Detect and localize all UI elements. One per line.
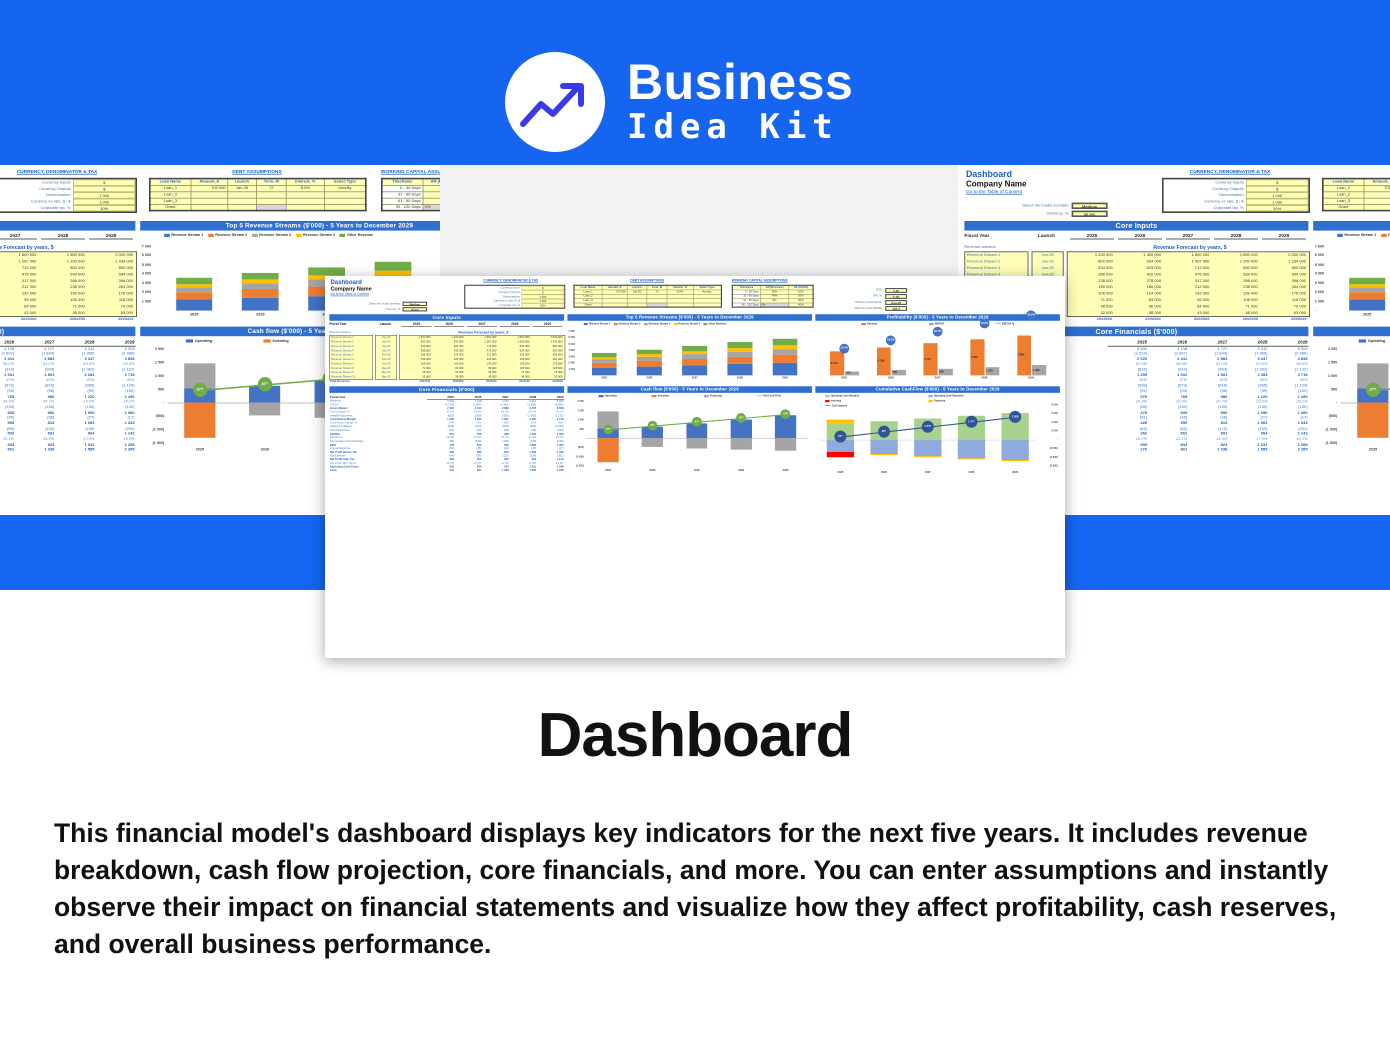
y-axis-tick: 6 000 <box>1037 412 1058 415</box>
revenue-stream-value[interactable]: 38 000 <box>433 375 466 379</box>
legend-swatch-line <box>825 405 830 406</box>
legend-swatch <box>1381 233 1387 236</box>
cash-flow-chart: OperatingInvestingFinancingNet Cash Flow… <box>1313 338 1390 466</box>
revenue-stream-value[interactable]: 32 000 <box>1068 310 1116 316</box>
stacked-bar-segment <box>773 349 798 355</box>
legend-item: Revenue <box>861 322 877 325</box>
wc-timeframe: 90 - 120 Days <box>732 303 760 307</box>
table-of-content-link[interactable]: Go to the Table of Content <box>330 293 368 296</box>
legend-swatch-line <box>995 323 1000 324</box>
legend-item: EBITDA <box>929 322 944 325</box>
inventory-label: Inventory, % <box>330 308 400 311</box>
total-revenue-row: ################################### <box>0 317 137 322</box>
stacked-bar-segment <box>637 367 662 376</box>
legend-label: Revenue Stream 1 <box>171 233 203 237</box>
x-axis-label: 2028 <box>965 471 978 474</box>
y-axis-tick: - <box>1315 308 1316 312</box>
x-axis-label: 2025 <box>602 469 615 472</box>
wc-ap[interactable]: 40% <box>789 303 813 307</box>
total-revenue-value: ####### <box>40 317 89 322</box>
debt-cell[interactable]: Grant <box>1323 204 1364 210</box>
stacked-bar-segment <box>242 273 278 280</box>
core-fin-value: 12.1% <box>0 437 15 442</box>
stacked-bar-segment <box>682 359 707 366</box>
legend-label: Revenue Stream 3 <box>259 233 291 237</box>
legend-label: EBITDA % <box>1002 322 1014 325</box>
profitability-chart: RevenueEBITDAEBITDA %3 54457616.3%20254 … <box>815 322 1060 386</box>
legend-label: Financing <box>934 399 945 402</box>
currency-row-value[interactable]: 10% <box>1246 205 1308 211</box>
revenue-streams-label: Revenue streams <box>964 245 995 250</box>
stacked-bar-segment <box>308 267 344 275</box>
y-axis-tick: 5 000 <box>1315 262 1324 266</box>
ebitda-pct-bubble: 18.5% <box>886 335 896 345</box>
stacked-bar-segment <box>242 289 278 298</box>
legend-item: Operating Cash Payments <box>928 394 1029 397</box>
core-fin-value: 270 <box>427 469 454 473</box>
y-axis-tick: 2 000 <box>569 361 575 364</box>
debt-cell[interactable]: Grant <box>150 204 191 210</box>
revenue-streams-bar: Top 5 Revenue Streams ($'000) - 5 Years … <box>567 314 812 321</box>
table-row: Cash2706011 0361 5852 265 <box>329 469 564 473</box>
core-fin-value: 1 585 <box>509 469 536 473</box>
table-of-content-link[interactable]: Go to the Table of Content <box>966 190 1022 195</box>
revenue-stream-value[interactable]: 43 000 <box>0 310 40 316</box>
revenue-stream-value[interactable]: 48 000 <box>1213 310 1261 316</box>
debt-cell[interactable] <box>647 303 667 307</box>
legend-swatch <box>825 395 829 397</box>
legend-label: Net Cash Flow <box>763 394 780 397</box>
y-axis-tick: 1 000 <box>142 299 151 303</box>
legend-label: Operating <box>605 394 617 397</box>
x-axis-label: 2027 <box>688 377 701 380</box>
legend-swatch <box>599 395 604 397</box>
total-revenue-value: ####### <box>88 317 137 322</box>
total-revenue-row: ################################### <box>1067 317 1310 322</box>
cumulative-cashflow-chart: Operating Cash ReceiptsOperating Cash Pa… <box>815 394 1060 481</box>
core-fin-value: 1 585 <box>55 447 95 452</box>
debt-block-caption: DEBT ASSUMPTIONS <box>1322 170 1390 175</box>
debt-cell[interactable]: Grant <box>574 303 602 307</box>
y-axis-tick: 4 000 <box>569 349 575 352</box>
legend-label: Revenue Stream 4 <box>303 233 335 237</box>
legend-swatch <box>1359 339 1366 342</box>
total-revenue-value: ####### <box>1067 317 1116 322</box>
legend-item: Operating <box>599 394 617 397</box>
stacked-bar-segment <box>773 355 798 363</box>
operating-payments-bar <box>1002 440 1029 460</box>
revenue-streams-bar: Top 5 Revenue Streams ($'000) - 5 Years … <box>1313 221 1390 231</box>
investing-bar <box>598 438 619 462</box>
stacked-bar-segment <box>637 361 662 367</box>
stacked-bar-segment <box>176 284 212 287</box>
currency-block-caption: CURRENCY, DENOMINATOR & TAX <box>456 279 565 282</box>
y-axis-tick: 3 000 <box>569 355 575 358</box>
kpi-value: 5.4% <box>885 294 907 299</box>
revenue-stream-value[interactable]: 53 000 <box>1261 310 1309 316</box>
legend-swatch <box>208 233 214 236</box>
x-axis-label: 2029 <box>1025 377 1038 380</box>
core-inputs-bar: Core Inputs <box>329 314 564 321</box>
y-axis-tick: (1 000) <box>569 455 584 458</box>
legend-swatch <box>929 323 934 325</box>
y-axis-tick: 6 000 <box>569 336 575 339</box>
fiscal-year-label: Fiscal Year <box>329 323 346 326</box>
x-axis-label: 2026 <box>646 469 659 472</box>
investing-bar <box>1357 403 1388 438</box>
dashboard-screenshot-main: DashboardCompany NameGo to the Table of … <box>325 276 1065 658</box>
legend-item: Financing <box>704 394 722 397</box>
chart-legend: Operating Cash ReceiptsOperating Cash Pa… <box>815 394 1060 408</box>
revenue-stream-value[interactable]: 38 000 <box>1116 310 1164 316</box>
top5-revenue-chart: Revenue Stream 1Revenue Stream 2Revenue … <box>1313 232 1390 326</box>
revenue-stream-value[interactable]: 48 000 <box>499 375 532 379</box>
debt-cell[interactable] <box>256 204 286 210</box>
y-axis-tick: (500) <box>569 446 584 449</box>
revenue-stream-value[interactable]: 32 000 <box>400 375 433 379</box>
revenue-stream-value[interactable]: 53 000 <box>532 375 565 379</box>
table-row: Grant <box>574 303 721 307</box>
legend-label: Revenue Stream 3 <box>649 322 671 325</box>
company-name: Company Name <box>330 286 371 292</box>
financing-bar <box>249 403 280 415</box>
cash-flow-chart: OperatingInvestingFinancingNet Cash Flow… <box>567 394 812 481</box>
currency-row-label: Corporate tax, % <box>1164 205 1246 211</box>
kpi-label: Minimum Cash Month <box>816 301 882 304</box>
stacked-bar-segment <box>592 353 617 357</box>
core-fin-value: 1 036 <box>1188 447 1228 452</box>
core-fin-value: 2 265 <box>1268 447 1308 452</box>
debt-cell[interactable] <box>667 303 693 307</box>
table-row: Cash2706011 0361 5852 265 <box>0 447 135 452</box>
legend-item: Other Revenue <box>340 233 373 237</box>
inventory-input[interactable]: 30.0% <box>1072 211 1108 217</box>
legend-item: Operating <box>1359 339 1385 343</box>
core-financials-bar: Core Financials ($'000) <box>0 327 135 337</box>
legend-item: Revenue Stream 3 <box>252 233 291 237</box>
stacked-bar-segment <box>637 357 662 361</box>
legend-item: Revenue Stream 4 <box>674 322 701 325</box>
table-row: 0 - 30 Days60%10% <box>732 290 813 294</box>
forecast-caption: Revenue Forecast by years, $ <box>1070 245 1310 251</box>
y-axis-tick: 5 000 <box>142 262 151 266</box>
legend-swatch <box>164 233 170 236</box>
kpi-value: Aug-25 <box>885 300 907 305</box>
revenue-bar-label: 5 904 <box>1018 354 1025 357</box>
debt-cell[interactable] <box>191 204 228 210</box>
core-inputs-year: 2026 <box>1118 234 1162 240</box>
stacked-bar-segment <box>682 365 707 375</box>
brand-tagline: Idea Kit <box>627 108 853 147</box>
legend-swatch <box>674 323 678 325</box>
cash-balance-bubble: 2 265 <box>1009 411 1021 423</box>
y-axis-tick: 1 500 <box>569 409 584 412</box>
currency-row: Corporate tax, %10% <box>0 205 135 211</box>
total-revenue-value: ####### <box>466 380 499 383</box>
legend-label: Operating Cash Receipts <box>831 394 860 397</box>
legend-label: Revenue <box>867 322 877 325</box>
core-inputs-bar: Core Inputs <box>0 221 135 231</box>
legend-label: Investing <box>272 339 288 343</box>
core-fin-value: 270 <box>1108 447 1148 452</box>
legend-swatch <box>928 395 932 397</box>
core-fin-value: 59.0% <box>0 362 15 367</box>
launch-label: Launch <box>380 323 392 326</box>
currency-table: Currency Inputs$Currency Outputs$Denomin… <box>464 285 565 309</box>
wc-ar[interactable]: 0% <box>423 204 440 210</box>
legend-swatch <box>252 233 258 236</box>
kpi-value: 7.20 <box>885 288 907 293</box>
core-financials-bar: Core Financials ($'000) <box>329 386 564 393</box>
legend-label: Other Revenue <box>708 322 726 325</box>
stacked-bar-segment <box>773 345 798 349</box>
cash-flow-bar: Cash flow ($'000) - 5 Years to December … <box>1313 327 1390 337</box>
x-axis-label: 2025 <box>834 471 847 474</box>
legend-swatch <box>1337 233 1343 236</box>
operating-payments-bar <box>871 440 898 454</box>
wc-timeframe: 90 - 120 Days <box>382 204 423 210</box>
revenue-stream-values: 1 200 0001 400 0001 600 0001 800 0002 00… <box>0 251 137 317</box>
y-axis-tick: 2 000 <box>1037 429 1058 432</box>
legend-label: Revenue Stream 1 <box>589 322 611 325</box>
legend-item: Revenue Stream 1 <box>1337 233 1376 237</box>
debt-block-caption: DEBT ASSUMPTIONS <box>573 279 720 282</box>
revenue-bar-label: 4 138 <box>877 360 884 363</box>
total-revenue-value: ####### <box>532 380 565 383</box>
legend-swatch <box>584 323 588 325</box>
y-axis-tick: (1 500) <box>1315 441 1337 445</box>
legend-item: Revenue Stream 3 <box>644 322 671 325</box>
financing-bar <box>1002 460 1029 461</box>
stacked-bar-segment <box>773 363 798 375</box>
y-axis-tick: 7 000 <box>142 244 151 248</box>
y-axis-tick: 4 000 <box>1037 421 1058 424</box>
debt-cell[interactable] <box>324 204 365 210</box>
y-axis-tick: (500) <box>142 414 164 418</box>
legend-swatch <box>186 339 193 342</box>
working-capital-table: TimeframeAR (Revenue)AP (COGS)0 - 30 Day… <box>381 178 440 212</box>
currency-row: Corporate tax, %10% <box>1164 205 1309 211</box>
ebitda-bar-label: 1 490 <box>1033 369 1040 372</box>
y-axis-tick: - <box>1037 438 1058 441</box>
y-axis-tick: (1 500) <box>569 464 584 467</box>
y-axis-tick: 500 <box>569 428 584 431</box>
wc-block-caption: WORKING CAPITAL ASSUMPTIONS <box>732 279 814 282</box>
core-fin-value: (1 697) <box>0 351 15 356</box>
core-fin-value: 601 <box>0 447 15 452</box>
legend-swatch <box>296 233 302 236</box>
ebitda-bar-label: 1 220 <box>986 370 993 373</box>
debt-cell[interactable] <box>693 303 721 307</box>
revenue-stream-value[interactable]: 43 000 <box>466 375 499 379</box>
stacked-bar-segment <box>727 348 752 351</box>
y-axis-tick: 2 000 <box>1315 290 1324 294</box>
ebitda-pct-bubble: 20.7% <box>933 327 943 337</box>
legend-swatch <box>614 323 618 325</box>
stacked-bar-segment <box>727 357 752 364</box>
core-fin-value: 1 036 <box>482 469 509 473</box>
core-fin-value: 2 265 <box>95 447 135 452</box>
stacked-bar-segment <box>592 368 617 375</box>
y-axis-tick: - <box>569 437 584 440</box>
scenario-select[interactable]: Medium <box>403 302 428 306</box>
x-axis-label: 2025 <box>190 448 209 452</box>
chart-legend: OperatingInvestingFinancingNet Cash Flow <box>1313 338 1390 344</box>
chart-legend: OperatingInvestingFinancingNet Cash Flow <box>567 394 812 398</box>
currency-row-label: Corporate tax, % <box>465 303 521 307</box>
cumulative-cashflow-bar: Cumulative CashFlow ($'000) - 5 Years to… <box>815 386 1060 393</box>
y-axis-tick: 1 000 <box>569 418 584 421</box>
currency-row-value[interactable]: 10% <box>522 303 565 307</box>
table-row: 61 - 90 Days0%30% <box>732 298 813 302</box>
stacked-bar-segment <box>242 280 278 284</box>
y-axis-tick: (2 000) <box>1037 447 1058 450</box>
core-inputs-year: 2029 <box>1262 234 1306 240</box>
brand-logo: Business Idea Kit <box>505 52 853 152</box>
core-financials-table: Fiscal Year20252026202720282029Revenue3 … <box>0 339 135 452</box>
core-fin-value: 601 <box>455 469 482 473</box>
total-revenue-label: Total Revenue <box>329 380 349 383</box>
legend-swatch <box>928 400 932 402</box>
working-capital-table: TimeframeAR (Revenue)AP (COGS)0 - 30 Day… <box>732 285 814 308</box>
y-axis-tick: - <box>142 401 164 405</box>
core-inputs-year: 2026 <box>434 323 464 327</box>
legend-swatch-line <box>757 395 762 396</box>
debt-cell[interactable] <box>602 303 627 307</box>
stacked-bar-segment <box>592 360 617 363</box>
scenario-select[interactable]: Medium <box>1072 203 1108 209</box>
financing-bar <box>914 456 941 457</box>
legend-swatch <box>264 339 271 342</box>
financing-bar <box>731 438 752 449</box>
x-axis-label: 2029 <box>1009 471 1022 474</box>
x-axis-label: 2029 <box>779 469 792 472</box>
revenue-stream-names: Revenue Stream 1Revenue Stream 2Revenue … <box>329 335 373 380</box>
core-inputs-year: 2028 <box>500 323 530 327</box>
chart-legend: RevenueEBITDAEBITDA % <box>815 322 1060 326</box>
stacked-bar-segment <box>176 278 212 284</box>
table-row: 90 - 120 Days0%40% <box>382 204 440 210</box>
ebitda-bar-label: 980 <box>939 370 944 373</box>
revenue-stream-launch-value[interactable]: Mar-25 <box>376 375 397 379</box>
launch-label: Launch <box>1038 234 1055 239</box>
total-revenue-value: ####### <box>1115 317 1164 322</box>
core-inputs-year: 2029 <box>89 234 133 240</box>
revenue-stream-value[interactable]: 48 000 <box>40 310 88 316</box>
ebitda-pct-bubble: 25.2% <box>1026 310 1036 320</box>
legend-item: Investing <box>825 399 926 402</box>
stacked-bar-segment <box>682 354 707 358</box>
total-revenue-value: ####### <box>1261 317 1310 322</box>
core-inputs-year: 2029 <box>532 323 562 327</box>
wc-ar[interactable]: 0% <box>760 303 789 307</box>
table-row: 90 - 120 Days0%40% <box>732 303 813 307</box>
legend-item: Operating <box>186 339 212 343</box>
stacked-bar-segment <box>242 298 278 311</box>
ebitda-bar-label: 576 <box>846 372 851 375</box>
x-axis-label: 2027 <box>690 469 703 472</box>
x-axis-label: 2025 <box>1358 313 1377 317</box>
stacked-bar-segment <box>176 287 212 292</box>
legend-item: Revenue Stream 2 <box>208 233 247 237</box>
legend-label: Investing <box>658 394 669 397</box>
y-axis-tick: 5 000 <box>569 343 575 346</box>
y-axis-tick: - <box>569 374 570 377</box>
total-revenue-row: ################################### <box>399 380 565 383</box>
debt-cell[interactable] <box>627 303 647 307</box>
revenue-streams-bar: Top 5 Revenue Streams ($'000) - 5 Years … <box>140 221 440 231</box>
financing-bar <box>686 438 707 448</box>
legend-label: Cash balance <box>832 404 847 407</box>
legend-swatch <box>825 400 829 402</box>
debt-cell[interactable] <box>228 204 257 210</box>
core-fin-value: 1 036 <box>15 447 55 452</box>
operating-payments-bar <box>958 440 985 458</box>
revenue-stream-launch: Jan-25Jan-25Jan-25Jan-25Feb-25Feb-25Feb-… <box>375 335 397 380</box>
inventory-input[interactable]: 30.0% <box>403 307 428 311</box>
legend-swatch <box>704 323 708 325</box>
revenue-stream-name: Revenue Stream 10 <box>330 375 373 379</box>
y-axis-tick: 1 000 <box>1315 374 1337 378</box>
core-inputs-bar: Core Inputs <box>964 221 1308 231</box>
y-axis-tick: - <box>1315 401 1337 405</box>
stacked-bar-segment <box>1349 278 1385 284</box>
revenue-stream-value[interactable]: 53 000 <box>88 310 136 316</box>
financing-bar <box>775 438 796 451</box>
y-axis-tick: 2 000 <box>569 400 584 403</box>
wc-block-caption: WORKING CAPITAL ASSUMPTIONS <box>381 170 440 175</box>
y-axis-tick: (1 000) <box>142 428 164 432</box>
debt-cell[interactable] <box>286 204 324 210</box>
legend-item: Other Revenue <box>704 322 727 325</box>
legend-label: Revenue Stream 2 <box>619 322 641 325</box>
ebitda-pct-bubble: 16.3% <box>839 344 849 354</box>
debt-table: Loan NameAmount, $LaunchTerm, MInterest,… <box>1322 178 1390 212</box>
currency-row-label: Corporate tax, % <box>0 205 73 211</box>
revenue-stream-value[interactable]: 43 000 <box>1164 310 1212 316</box>
stacked-bar-segment <box>375 262 411 271</box>
core-inputs-year: 2028 <box>41 234 85 240</box>
core-inputs-year: 2027 <box>467 323 497 327</box>
revenue-bar-label: 3 544 <box>831 362 838 365</box>
x-axis-label: 2025 <box>838 377 851 380</box>
legend-item: Revenue Stream 1 <box>164 233 203 237</box>
y-axis-tick: 500 <box>1315 387 1337 391</box>
legend-swatch <box>652 395 657 397</box>
table-row: 32 00038 00043 00048 00053 000 <box>0 310 136 316</box>
legend-swatch <box>340 233 346 236</box>
currency-table: Currency Inputs$Currency Outputs$Denomin… <box>0 178 137 213</box>
legend-label: Revenue Stream 1 <box>1344 233 1376 237</box>
stacked-bar-segment <box>1349 287 1385 292</box>
y-axis-tick: 3 000 <box>1315 281 1324 285</box>
core-inputs-year: 2025 <box>1070 234 1114 240</box>
growth-arrow-chart-icon <box>505 52 605 152</box>
stacked-bar-segment <box>242 284 278 290</box>
top5-revenue-chart: Revenue Stream 1Revenue Stream 2Revenue … <box>567 322 812 386</box>
debt-cell[interactable] <box>1364 204 1390 210</box>
x-axis-label: 2026 <box>884 377 897 380</box>
currency-block-caption: CURRENCY, DENOMINATOR & TAX <box>0 170 137 175</box>
revenue-bar-label: 5 312 <box>971 356 978 359</box>
y-axis-tick: 500 <box>142 387 164 391</box>
debt-table: Loan NameAmount, $LaunchTerm, MInterest,… <box>149 178 367 212</box>
financing-bar <box>827 420 854 424</box>
table-row: 31 - 60 Days40%20% <box>732 294 813 298</box>
chart-legend: Revenue Stream 1Revenue Stream 2Revenue … <box>140 232 440 238</box>
currency-row-value[interactable]: 10% <box>73 205 135 211</box>
x-axis-label: 2025 <box>598 377 611 380</box>
